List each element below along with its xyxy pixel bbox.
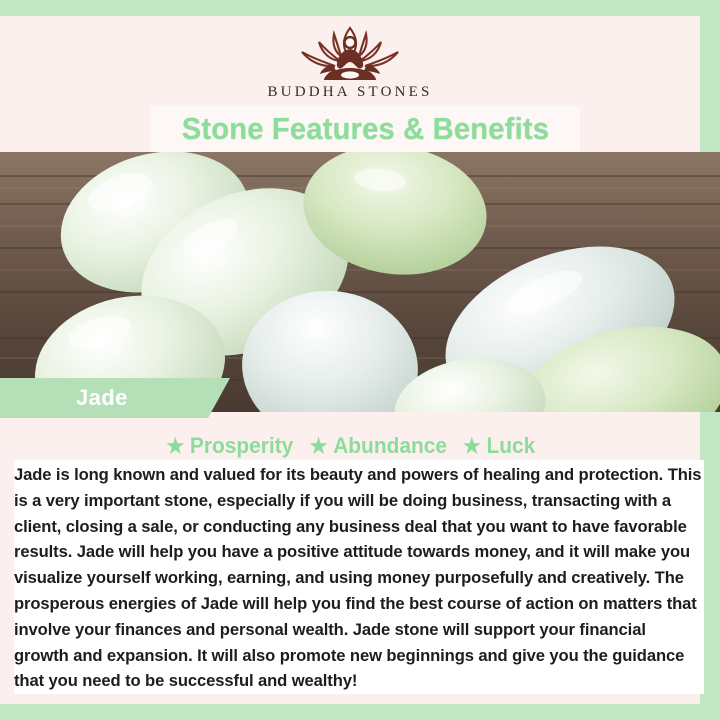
page-title: Stone Features & Benefits xyxy=(181,111,548,147)
benefit-item-abundance: ★ Abundance xyxy=(310,433,447,459)
benefit-label: Prosperity xyxy=(190,433,293,459)
stone-name-banner: Jade xyxy=(0,378,230,418)
stone-description: Jade is long known and valued for its be… xyxy=(14,460,704,694)
poster-root: BUDDHA STONES Stone Features & Benefits xyxy=(0,0,720,720)
benefits-row: ★ Prosperity ★ Abundance ★ Luck xyxy=(0,430,700,462)
star-icon: ★ xyxy=(310,436,328,457)
brand-logo: BUDDHA STONES xyxy=(0,16,700,108)
lotus-meditation-icon xyxy=(286,22,414,82)
brand-name: BUDDHA STONES xyxy=(267,84,432,101)
benefit-label: Abundance xyxy=(334,433,448,459)
frame-top-green-bar xyxy=(0,0,720,16)
star-icon: ★ xyxy=(463,436,481,457)
stone-description-text: Jade is long known and valued for its be… xyxy=(14,462,704,694)
benefit-item-prosperity: ★ Prosperity xyxy=(166,433,293,459)
stone-photo xyxy=(0,152,720,412)
benefit-label: Luck xyxy=(487,433,536,459)
title-band: Stone Features & Benefits xyxy=(150,106,580,152)
benefit-item-luck: ★ Luck xyxy=(463,433,535,459)
stone-photo-illustration xyxy=(0,152,720,412)
stone-name: Jade xyxy=(76,385,128,411)
star-icon: ★ xyxy=(166,436,184,457)
